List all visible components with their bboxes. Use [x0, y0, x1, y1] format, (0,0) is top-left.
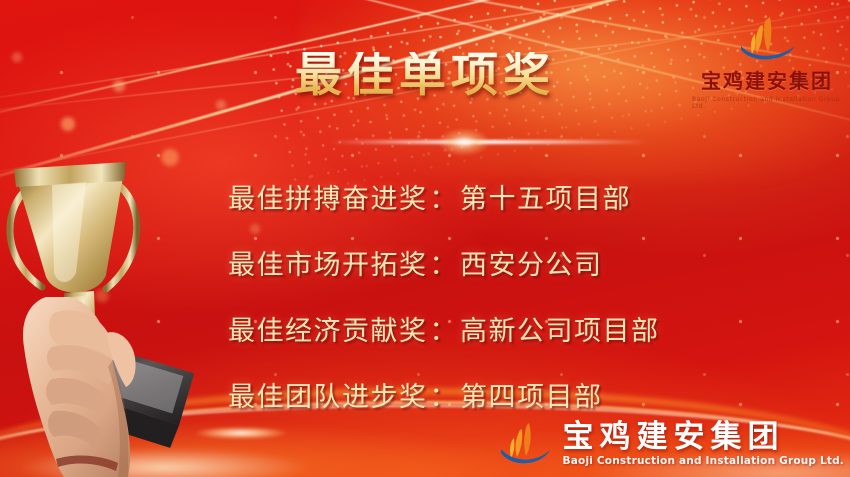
award-category-label: 最佳团队进步奖: [228, 375, 428, 414]
award-slide: 最佳单项奖 最佳拼搏奋进奖 ： 第十五项目部 最佳市场开拓奖 ： 西安分公司 最…: [0, 0, 850, 477]
corporate-logo-top: 宝鸡建安集团 Baoji Construction and Installati…: [692, 16, 842, 104]
award-recipient: 第四项目部: [460, 375, 603, 414]
swoosh-hotspot: [196, 427, 286, 439]
lens-flare-streak: [330, 140, 650, 144]
logo-top-name-cn: 宝鸡建安集团: [701, 65, 833, 94]
award-row: 最佳拼搏奋进奖 ： 第十五项目部: [228, 163, 828, 229]
award-separator: ：: [428, 243, 461, 282]
logo-bottom-name-en: Baoji Construction and Installation Grou…: [563, 455, 844, 467]
award-row: 最佳经济贡献奖 ： 高新公司项目部: [228, 295, 828, 361]
logo-bottom-name-cn: 宝鸡建安集团: [563, 421, 844, 454]
logo-bottom-text: 宝鸡建安集团 Baoji Construction and Installati…: [563, 421, 844, 467]
award-separator: ：: [428, 375, 461, 414]
award-row: 最佳市场开拓奖 ： 西安分公司: [228, 229, 828, 295]
award-recipient: 高新公司项目部: [460, 309, 660, 348]
award-row: 最佳团队进步奖 ： 第四项目部: [228, 361, 828, 427]
award-separator: ：: [428, 177, 461, 216]
award-recipient: 西安分公司: [460, 243, 603, 282]
sail-swoosh-icon: [727, 16, 807, 64]
lens-flare-core: [438, 128, 490, 156]
sail-swoosh-icon: [493, 421, 555, 467]
logo-top-name-en: Baoji Construction and Installation Grou…: [692, 96, 842, 110]
award-category-label: 最佳经济贡献奖: [228, 309, 428, 348]
award-separator: ：: [428, 309, 461, 348]
award-category-label: 最佳拼搏奋进奖: [228, 177, 428, 216]
hand-holding-trophy-image: [0, 147, 209, 477]
award-recipient: 第十五项目部: [460, 177, 631, 216]
award-category-label: 最佳市场开拓奖: [228, 243, 428, 282]
award-list: 最佳拼搏奋进奖 ： 第十五项目部 最佳市场开拓奖 ： 西安分公司 最佳经济贡献奖…: [228, 163, 828, 427]
corporate-logo-bottom: 宝鸡建安集团 Baoji Construction and Installati…: [493, 421, 844, 467]
